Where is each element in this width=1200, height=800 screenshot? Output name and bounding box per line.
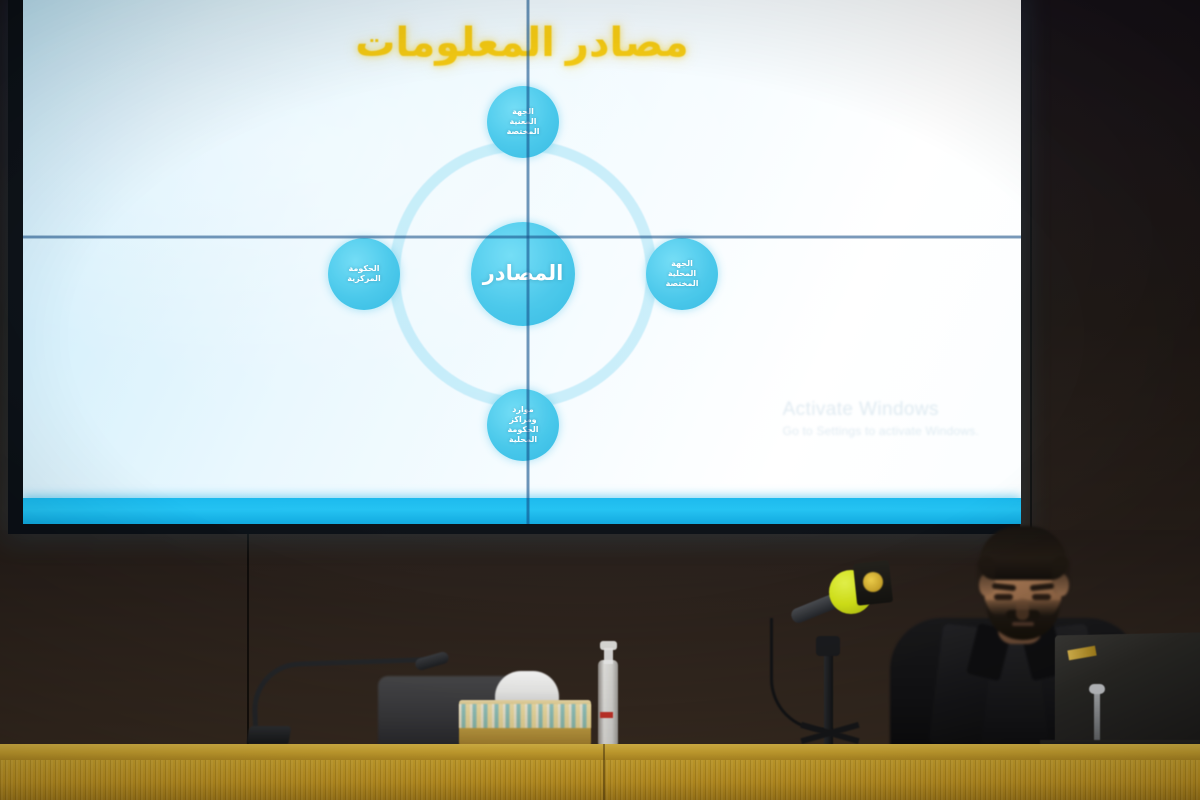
node-bottom-line-2: ومراكز: [508, 415, 539, 425]
diagram-node-bottom[interactable]: موارد ومراكز الحكومة المحلية: [487, 389, 559, 461]
node-top-line-2: المعنية: [507, 117, 540, 127]
spray-bottle: [598, 660, 618, 746]
node-left-line-1: الحكومة: [347, 264, 381, 274]
node-right-line-3: المختصة: [666, 279, 699, 289]
presentation-screen[interactable]: مصادر المعلومات الجهة المعنية المختصة ال…: [23, 0, 1021, 524]
tissue-box-beadwork: [459, 704, 591, 728]
presenter-hair-fade-left: [977, 556, 995, 596]
watermark-title: Activate Windows: [783, 399, 979, 421]
diagram-center-label: المصادر: [483, 261, 564, 286]
presenter-hair-fade-right: [1052, 556, 1070, 596]
laptop-desk-microphone-capsule: [1089, 684, 1105, 694]
diagram-node-top[interactable]: الجهة المعنية المختصة: [487, 86, 559, 158]
laptop-desk-microphone: [1094, 690, 1100, 742]
diagram-node-right[interactable]: الجهة المحلية المختصة: [646, 238, 718, 310]
node-top-line-3: المختصة: [507, 127, 540, 137]
watermark-subtitle: Go to Settings to activate Windows.: [783, 424, 979, 438]
dais-desk-front: [0, 760, 1200, 800]
node-bottom-line-3: الحكومة: [508, 425, 539, 435]
video-wall-vertical-seam: [526, 0, 530, 524]
presenter-nose: [1016, 598, 1029, 620]
video-wall-bezel: مصادر المعلومات الجهة المعنية المختصة ال…: [8, 0, 1020, 534]
gooseneck-microphone-left-base: [246, 726, 291, 744]
node-right-line-2: المحلية: [666, 269, 699, 279]
screenshot-root: مصادر المعلومات الجهة المعنية المختصة ال…: [0, 0, 1200, 800]
node-bottom-line-1: موارد: [508, 405, 539, 415]
presenter-mouth: [1012, 622, 1034, 626]
hub-and-spoke-diagram: الجهة المعنية المختصة الحكومة المركزية ا…: [328, 86, 718, 461]
presenter-eye-right: [1032, 594, 1051, 600]
node-right-line-1: الجهة: [666, 259, 699, 269]
node-top-line-1: الجهة: [507, 107, 540, 117]
spray-bottle-label: [600, 712, 613, 718]
node-bottom-line-4: المحلية: [508, 435, 539, 445]
diagram-node-left[interactable]: الحكومة المركزية: [328, 238, 400, 310]
windows-activation-watermark: Activate Windows Go to Settings to activ…: [783, 399, 979, 438]
slide-bottom-band: [23, 498, 1021, 524]
microphone-clip: [816, 636, 840, 656]
spray-bottle-neck: [604, 648, 613, 664]
slide-title: مصادر المعلومات: [23, 20, 1021, 66]
spray-bottle-nozzle: [600, 641, 617, 650]
presenter-eye-left: [994, 594, 1013, 600]
desk-panel-seam: [603, 744, 605, 800]
node-left-line-2: المركزية: [347, 274, 381, 284]
video-wall-horizontal-seam: [23, 235, 1021, 239]
